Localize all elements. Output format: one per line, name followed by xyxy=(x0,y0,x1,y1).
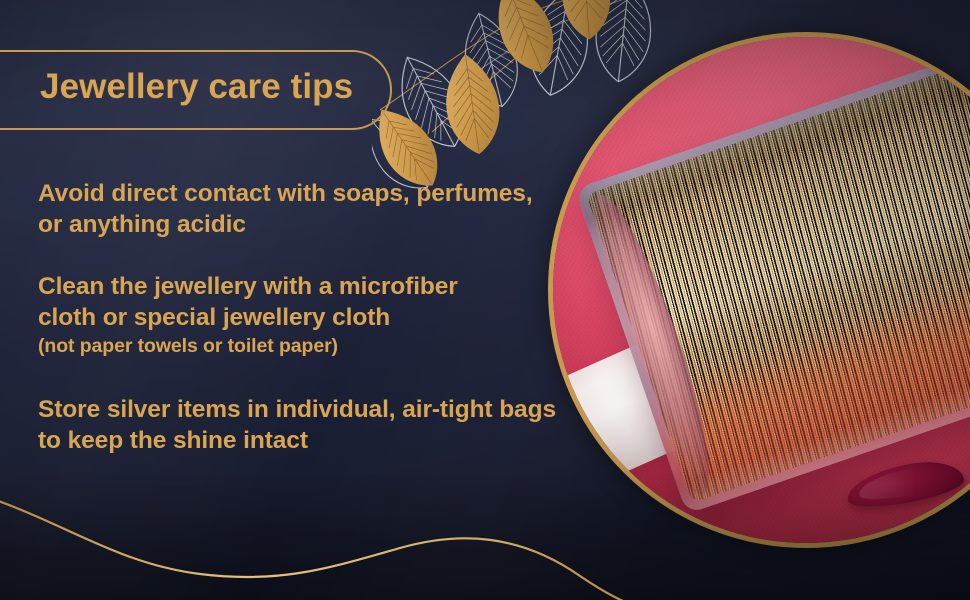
tip-line: Avoid direct contact with soaps, perfume… xyxy=(38,178,598,209)
care-tip-item: Avoid direct contact with soaps, perfume… xyxy=(38,178,598,241)
tip-line: Clean the jewellery with a microfiber xyxy=(38,271,598,302)
care-tip-item: Clean the jewellery with a microfiber cl… xyxy=(38,271,598,360)
page-title: Jewellery care tips xyxy=(40,67,353,107)
tip-line: Store silver items in individual, air-ti… xyxy=(38,394,598,425)
tip-line: to keep the shine intact xyxy=(38,425,598,456)
care-tip-item: Store silver items in individual, air-ti… xyxy=(38,394,598,457)
tip-line: or anything acidic xyxy=(38,209,598,240)
care-tips-list: Avoid direct contact with soaps, perfume… xyxy=(38,178,598,457)
tip-note: (not paper towels or toilet paper) xyxy=(38,334,598,359)
tip-line: cloth or special jewellery cloth xyxy=(38,302,598,333)
jewellery-care-tips-banner: Jewellery care tips Avoid direct contact… xyxy=(0,0,970,600)
